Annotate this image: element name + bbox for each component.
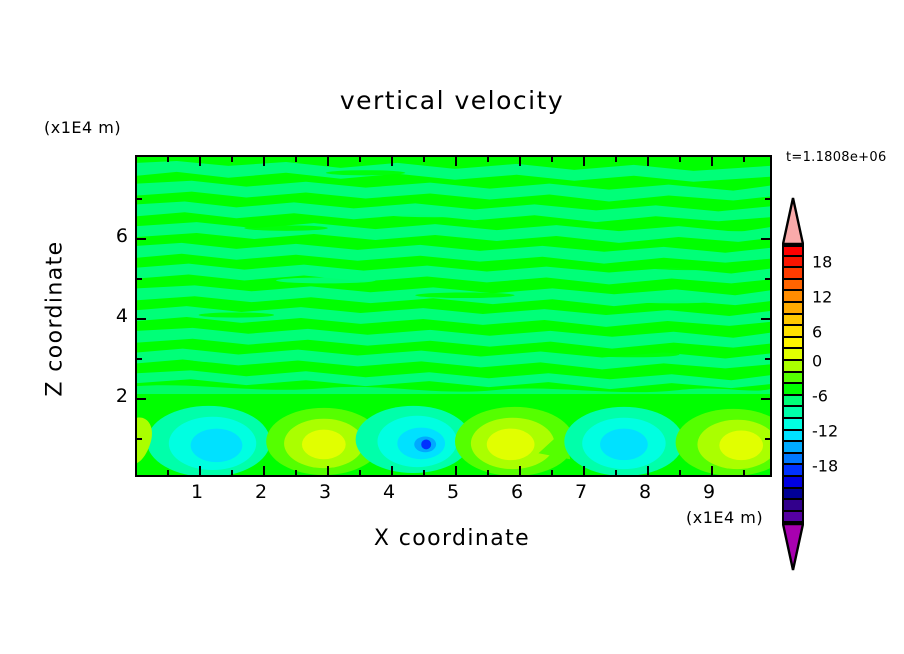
x-tick-label: 1 (191, 481, 203, 503)
x-tick-minor (679, 470, 681, 475)
colorbar-band (782, 338, 804, 350)
colorbar-band (782, 373, 804, 385)
colorbar-band (782, 396, 804, 408)
y-tick-major-right (761, 238, 770, 240)
z-unit-label: (x1E4 m) (44, 118, 121, 137)
x-tick-minor-top (487, 157, 489, 162)
x-tick-major (455, 466, 457, 475)
x-tick-minor-top (615, 157, 617, 162)
colorbar-band (782, 407, 804, 419)
x-tick-minor-top (743, 157, 745, 162)
colorbar-tick-label: -12 (812, 422, 838, 441)
x-tick-minor-top (295, 157, 297, 162)
vertical-velocity-field (137, 157, 770, 475)
y-tick-minor-right (765, 438, 770, 440)
x-tick-minor-top (551, 157, 553, 162)
convection-cell-negative-3 (564, 407, 683, 475)
x-tick-minor (359, 470, 361, 475)
x-tick-major-top (711, 157, 713, 166)
colorbar-band (782, 465, 804, 477)
x-unit-label: (x1E4 m) (686, 508, 763, 527)
y-axis-title: Z coordinate (43, 204, 68, 434)
y-tick-minor (137, 438, 142, 440)
colorbar-band (782, 454, 804, 466)
colorbar-under-arrow (782, 523, 804, 571)
colorbar-band (782, 512, 804, 524)
colorbar-band (782, 431, 804, 443)
y-tick-major-right (761, 398, 770, 400)
x-tick-major-top (391, 157, 393, 166)
convection-cell-positive-2 (455, 407, 574, 475)
x-tick-minor-top (423, 157, 425, 162)
x-tick-label: 7 (575, 481, 587, 503)
y-tick-minor (137, 278, 142, 280)
y-tick-major (137, 398, 146, 400)
x-tick-major (647, 466, 649, 475)
colorbar-band (782, 326, 804, 338)
y-tick-major-right (761, 318, 770, 320)
y-tick-minor (137, 358, 142, 360)
y-tick-label: 4 (108, 305, 128, 327)
x-tick-minor-top (167, 157, 169, 162)
colorbar-band (782, 303, 804, 315)
colorbar-band (782, 442, 804, 454)
colorbar-band (782, 500, 804, 512)
x-tick-major (263, 466, 265, 475)
x-tick-label: 6 (511, 481, 523, 503)
x-tick-minor (551, 470, 553, 475)
y-tick-major (137, 238, 146, 240)
convection-cell-negative-2 (356, 406, 471, 473)
colorbar-tick-label: 0 (812, 352, 822, 371)
x-tick-minor (167, 470, 169, 475)
colorbar-band (782, 349, 804, 361)
colorbar[interactable] (782, 245, 804, 477)
x-tick-major (327, 466, 329, 475)
colorbar-band (782, 245, 804, 257)
x-tick-major-top (327, 157, 329, 166)
x-tick-major-top (647, 157, 649, 166)
colorbar-tick-label: 12 (812, 288, 832, 307)
x-tick-major (199, 466, 201, 475)
x-tick-minor-top (359, 157, 361, 162)
x-tick-minor (743, 470, 745, 475)
colorbar-tick-label: -18 (812, 457, 838, 476)
x-tick-minor (487, 470, 489, 475)
colorbar-band (782, 361, 804, 373)
x-tick-major (391, 466, 393, 475)
contour-plot-area (135, 155, 772, 477)
x-tick-label: 3 (319, 481, 331, 503)
timestamp-label: t=1.1808e+06 (786, 150, 887, 165)
x-tick-label: 9 (703, 481, 715, 503)
y-tick-label: 2 (108, 385, 128, 407)
convection-cell-negative-1 (147, 406, 270, 475)
colorbar-tick-label: 6 (812, 323, 822, 342)
x-tick-minor-top (679, 157, 681, 162)
x-tick-label: 2 (255, 481, 267, 503)
x-tick-minor (423, 470, 425, 475)
colorbar-band (782, 489, 804, 501)
figure-canvas: vertical velocity (x1E4 m) (x1E4 m) t=1.… (0, 0, 904, 654)
x-tick-major-top (583, 157, 585, 166)
colorbar-band (782, 291, 804, 303)
colorbar-tick-label: -6 (812, 387, 828, 406)
y-tick-minor-right (765, 358, 770, 360)
x-tick-major (519, 466, 521, 475)
x-tick-major-top (263, 157, 265, 166)
x-tick-minor (615, 470, 617, 475)
x-tick-label: 4 (383, 481, 395, 503)
x-tick-minor (295, 470, 297, 475)
x-tick-major-top (455, 157, 457, 166)
y-tick-minor-right (765, 198, 770, 200)
colorbar-band (782, 419, 804, 431)
chart-title: vertical velocity (0, 86, 904, 115)
x-tick-major (711, 466, 713, 475)
colorbar-over-arrow (782, 197, 804, 245)
colorbar-band (782, 257, 804, 269)
colorbar-band (782, 315, 804, 327)
x-axis-title: X coordinate (0, 526, 904, 551)
y-tick-label: 6 (108, 225, 128, 247)
colorbar-tick-label: 18 (812, 253, 832, 272)
colorbar-band (782, 268, 804, 280)
x-tick-major (583, 466, 585, 475)
x-tick-major-top (519, 157, 521, 166)
x-tick-major-top (199, 157, 201, 166)
x-tick-label: 8 (639, 481, 651, 503)
colorbar-band (782, 477, 804, 489)
y-tick-major (137, 318, 146, 320)
colorbar-band (782, 384, 804, 396)
y-tick-minor (137, 198, 142, 200)
y-tick-minor-right (765, 278, 770, 280)
colorbar-band (782, 280, 804, 292)
x-tick-minor (231, 470, 233, 475)
x-tick-minor-top (231, 157, 233, 162)
x-tick-label: 5 (447, 481, 459, 503)
